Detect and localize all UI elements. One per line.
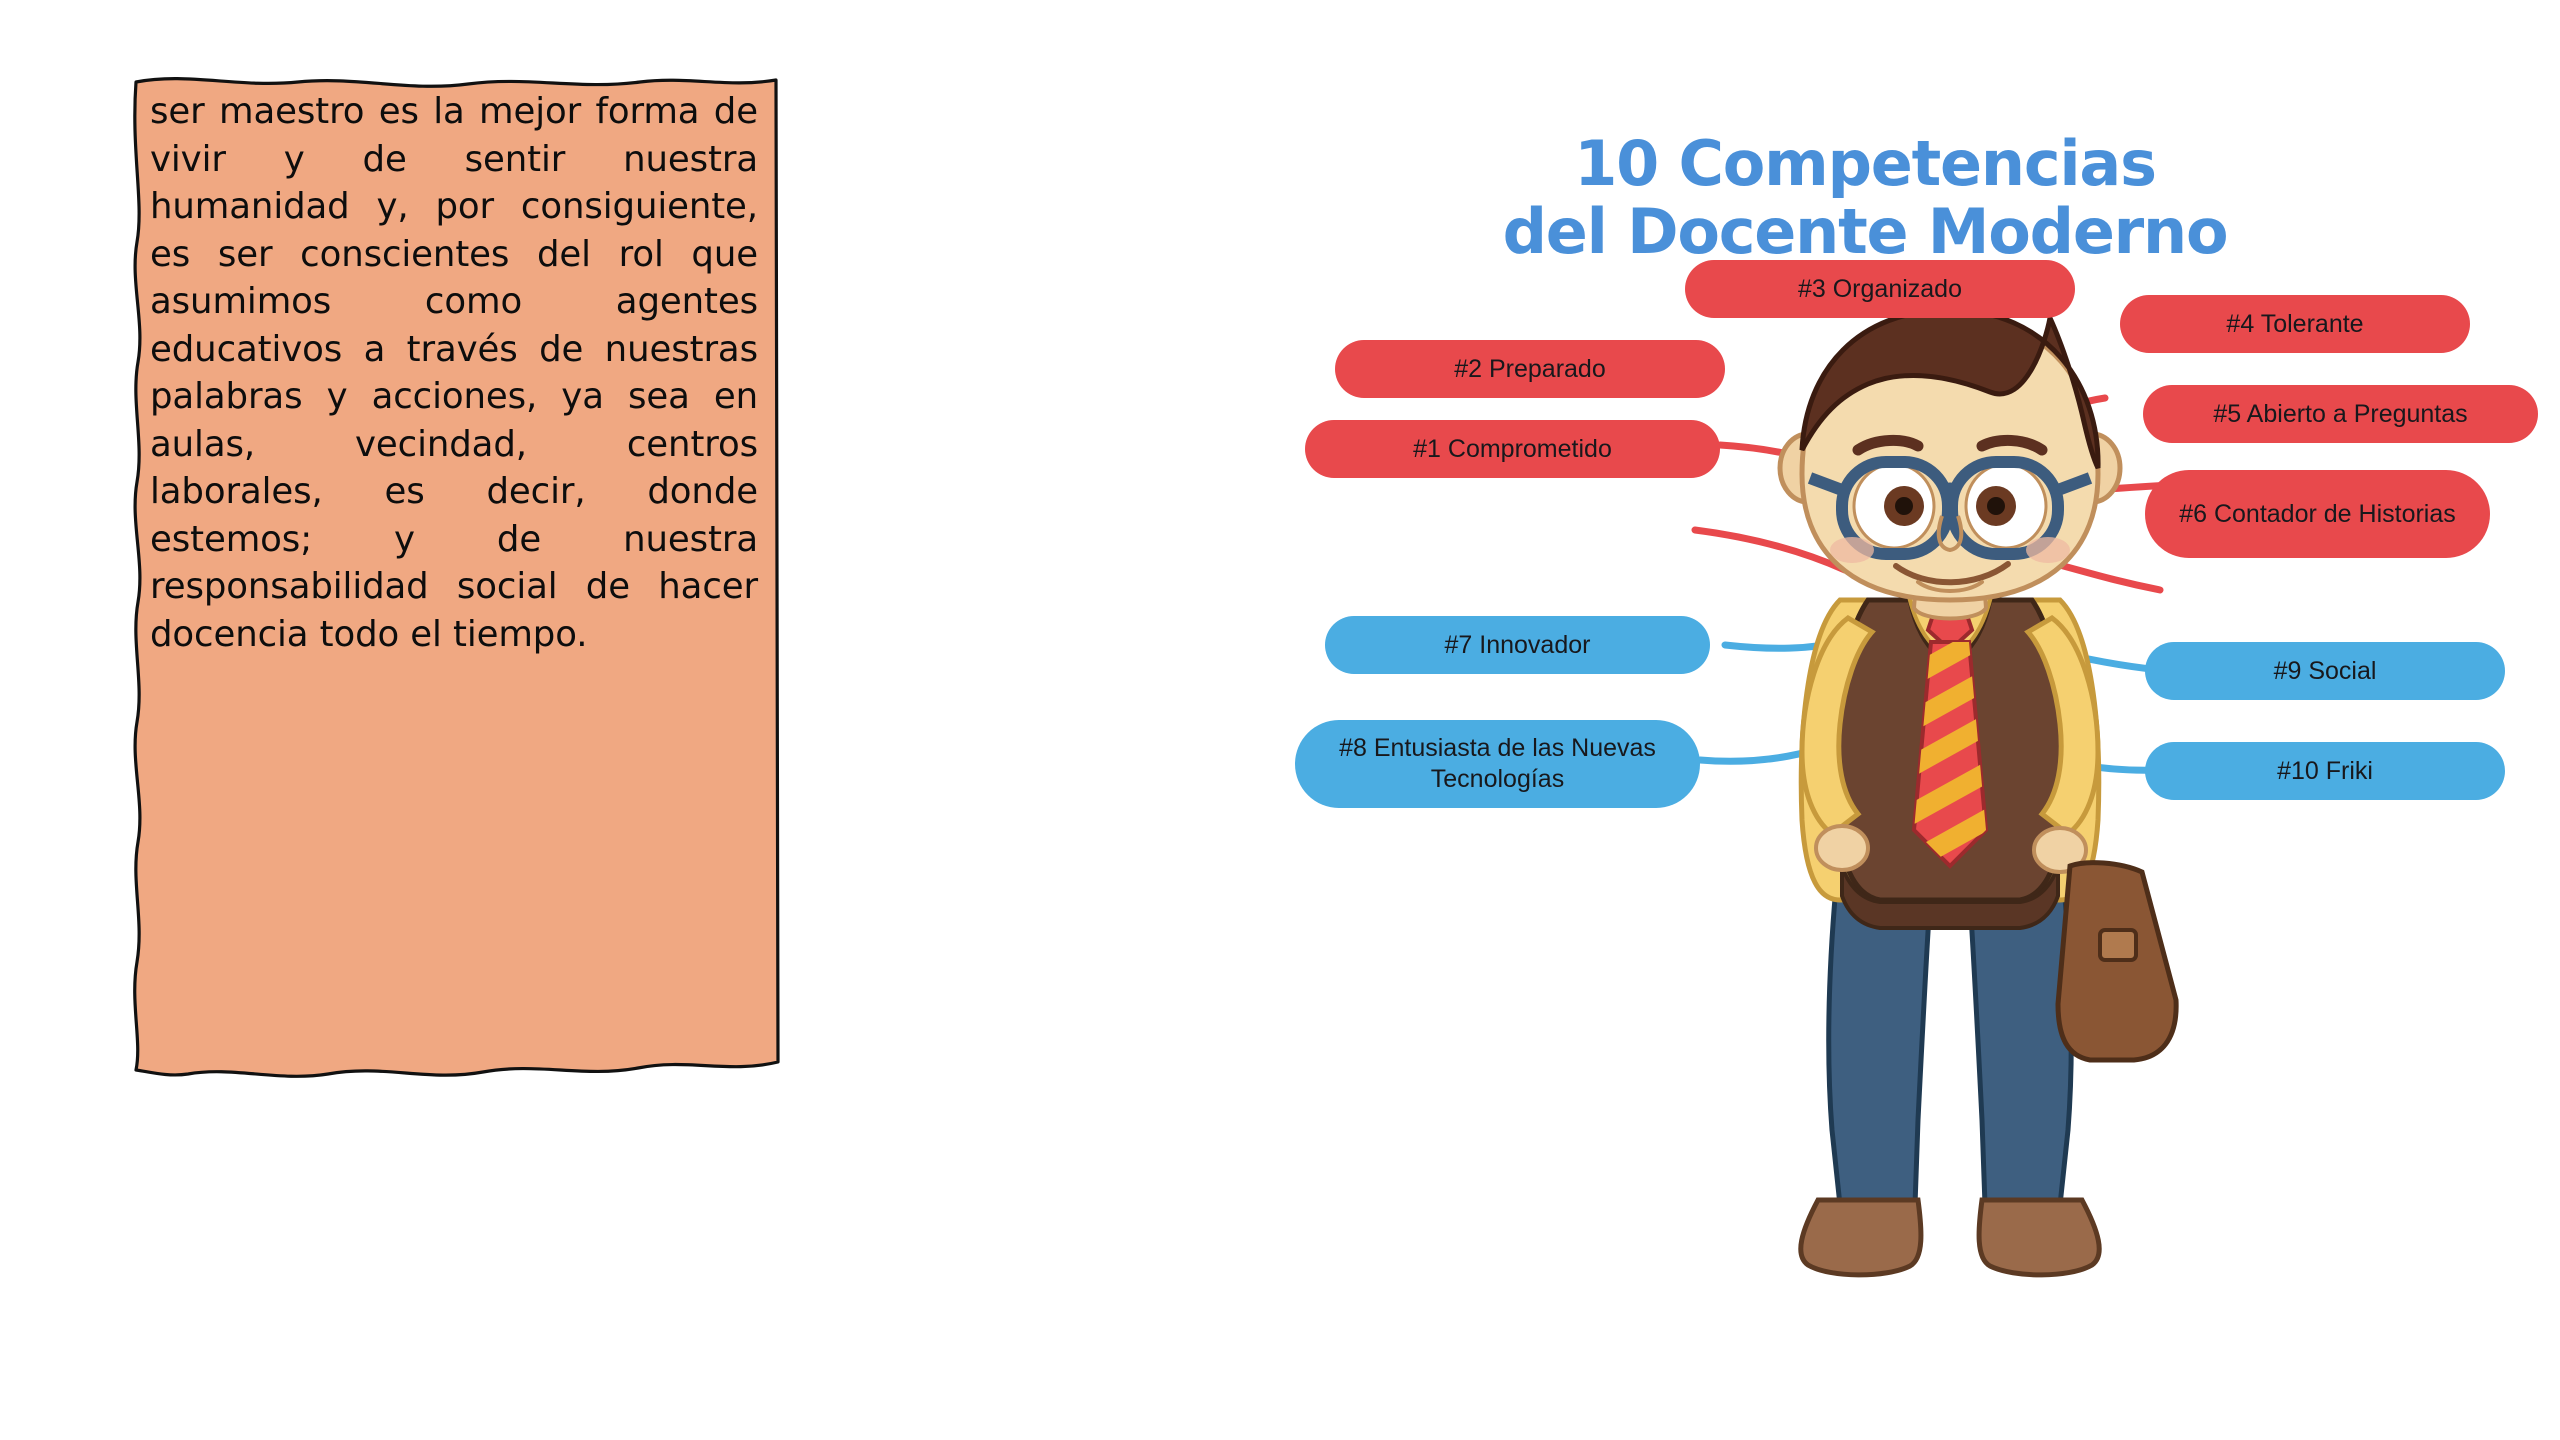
- competency-pill-5[interactable]: #5 Abierto a Preguntas: [2143, 385, 2538, 443]
- infographic: 10 Competencias del Docente Moderno: [1300, 50, 2550, 1390]
- competency-label-8: #8 Entusiasta de las Nuevas Tecnologías: [1309, 733, 1686, 795]
- teacher-illustration: [1690, 300, 2210, 1320]
- competency-pill-7[interactable]: #7 Innovador: [1325, 616, 1710, 674]
- competency-pill-2[interactable]: #2 Preparado: [1335, 340, 1725, 398]
- competency-pill-4[interactable]: #4 Tolerante: [2120, 295, 2470, 353]
- passage-text: ser maestro es la mejor forma de vivir y…: [150, 88, 758, 1038]
- competency-label-6: #6 Contador de Historias: [2179, 499, 2456, 530]
- competency-pill-6[interactable]: #6 Contador de Historias: [2145, 470, 2490, 558]
- text-card: ser maestro es la mejor forma de vivir y…: [128, 62, 783, 1084]
- competency-pill-1[interactable]: #1 Comprometido: [1305, 420, 1720, 478]
- competency-pill-3[interactable]: #3 Organizado: [1685, 260, 2075, 318]
- competency-label-2: #2 Preparado: [1454, 354, 1606, 385]
- competency-label-5: #5 Abierto a Preguntas: [2213, 399, 2467, 430]
- competency-label-7: #7 Innovador: [1445, 630, 1591, 661]
- competency-pill-9[interactable]: #9 Social: [2145, 642, 2505, 700]
- competency-label-1: #1 Comprometido: [1413, 434, 1612, 465]
- competency-label-10: #10 Friki: [2277, 756, 2373, 787]
- competency-label-9: #9 Social: [2274, 656, 2377, 687]
- competency-pill-8[interactable]: #8 Entusiasta de las Nuevas Tecnologías: [1295, 720, 1700, 808]
- competency-label-4: #4 Tolerante: [2226, 309, 2363, 340]
- competency-label-3: #3 Organizado: [1798, 274, 1962, 305]
- competency-pill-10[interactable]: #10 Friki: [2145, 742, 2505, 800]
